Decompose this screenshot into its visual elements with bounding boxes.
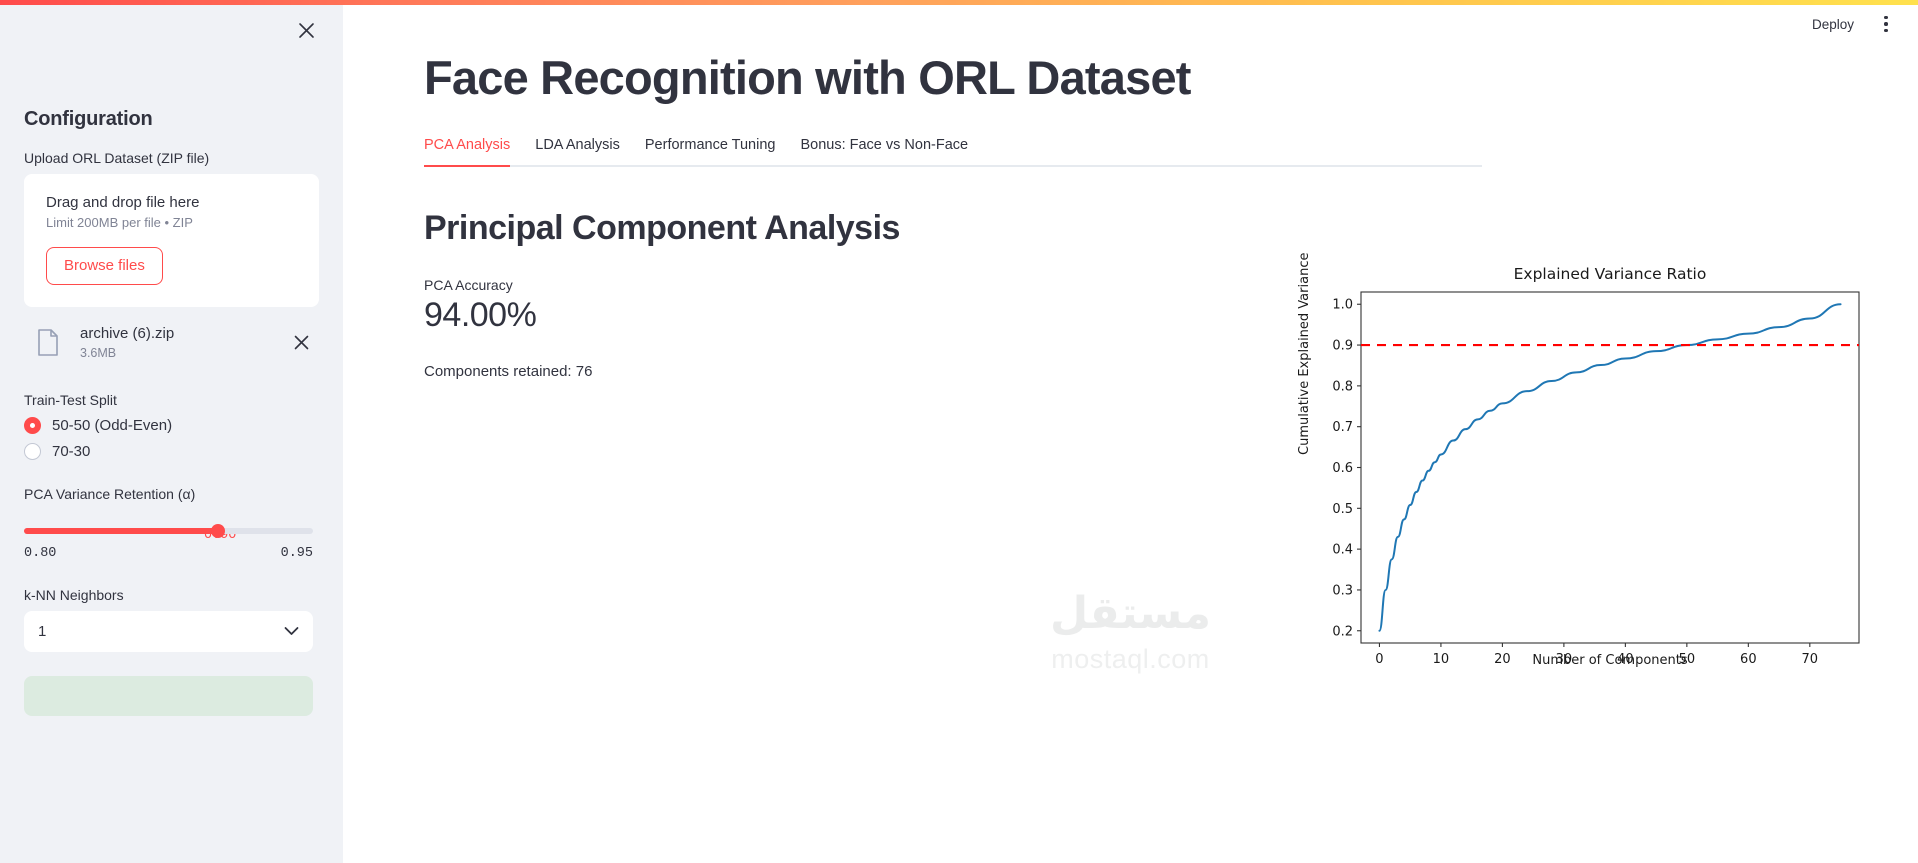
sidebar-title: Configuration <box>24 108 319 131</box>
watermark-arabic: مستقل <box>1033 592 1228 636</box>
browse-files-button[interactable]: Browse files <box>46 247 163 285</box>
page-title: Face Recognition with ORL Dataset <box>424 52 1918 104</box>
svg-text:0.4: 0.4 <box>1332 543 1353 558</box>
variance-slider[interactable]: 0.90 0.80 0.95 <box>24 528 313 561</box>
sidebar: Configuration Upload ORL Dataset (ZIP fi… <box>0 0 343 863</box>
svg-text:30: 30 <box>1556 652 1573 667</box>
dropzone-title: Drag and drop file here <box>46 194 297 211</box>
svg-text:0.7: 0.7 <box>1332 420 1353 435</box>
uploaded-file-row: archive (6).zip 3.6MB <box>24 319 319 366</box>
uploaded-file-name: archive (6).zip <box>80 325 287 344</box>
top-gradient-bar <box>0 0 1918 5</box>
radio-label-70-30: 70-30 <box>52 443 90 460</box>
knn-neighbors-value: 1 <box>38 623 284 640</box>
close-icon <box>298 22 315 39</box>
variance-slider-bounds: 0.80 0.95 <box>24 546 313 561</box>
knn-neighbors-select[interactable]: 1 <box>24 611 313 652</box>
knn-neighbors-label: k-NN Neighbors <box>24 587 319 603</box>
remove-file-button[interactable] <box>287 335 315 350</box>
variance-slider-min: 0.80 <box>24 546 56 561</box>
radio-indicator-unselected <box>24 443 41 460</box>
svg-text:50: 50 <box>1679 652 1696 667</box>
main-content: Deploy Face Recognition with ORL Dataset… <box>343 0 1918 863</box>
watermark-latin: mostaql.com <box>1033 644 1228 675</box>
svg-text:0.6: 0.6 <box>1332 461 1353 476</box>
uploaded-file-meta: archive (6).zip 3.6MB <box>68 325 287 360</box>
close-icon <box>294 335 309 350</box>
file-dropzone[interactable]: Drag and drop file here Limit 200MB per … <box>24 174 319 307</box>
explained-variance-chart: Explained Variance Ratio Cumulative Expl… <box>1303 265 1883 685</box>
app-root: Configuration Upload ORL Dataset (ZIP fi… <box>0 0 1918 863</box>
watermark: مستقل mostaql.com <box>1033 592 1228 675</box>
variance-slider-thumb[interactable] <box>211 524 225 538</box>
svg-text:0.3: 0.3 <box>1332 583 1353 598</box>
radio-label-50-50: 50-50 (Odd-Even) <box>52 417 172 434</box>
sidebar-close-button[interactable] <box>289 13 323 47</box>
tab-pca-analysis[interactable]: PCA Analysis <box>424 137 510 165</box>
svg-text:0.2: 0.2 <box>1332 624 1353 639</box>
tab-lda-analysis[interactable]: LDA Analysis <box>535 137 620 165</box>
file-icon <box>28 329 68 356</box>
tab-bar: PCA Analysis LDA Analysis Performance Tu… <box>424 137 1482 167</box>
uploaded-file-size: 3.6MB <box>80 346 287 360</box>
svg-text:40: 40 <box>1617 652 1634 667</box>
variance-slider-max: 0.95 <box>281 546 313 561</box>
variance-slider-track[interactable] <box>24 528 313 534</box>
topbar: Deploy <box>1812 0 1918 48</box>
radio-indicator-selected <box>24 417 41 434</box>
svg-text:0.5: 0.5 <box>1332 502 1353 517</box>
tab-bonus-face-vs-non-face[interactable]: Bonus: Face vs Non-Face <box>800 137 968 165</box>
svg-text:60: 60 <box>1740 652 1757 667</box>
train-test-split-label: Train-Test Split <box>24 392 319 408</box>
status-success-box <box>24 676 313 716</box>
svg-text:0.9: 0.9 <box>1332 339 1353 354</box>
chart-canvas: 0.20.30.40.50.60.70.80.91.00102030405060… <box>1303 265 1883 685</box>
svg-text:10: 10 <box>1433 652 1450 667</box>
tab-performance-tuning[interactable]: Performance Tuning <box>645 137 776 165</box>
svg-text:0.8: 0.8 <box>1332 379 1353 394</box>
dropzone-limit-text: Limit 200MB per file • ZIP <box>46 215 297 230</box>
radio-option-50-50[interactable]: 50-50 (Odd-Even) <box>24 417 319 434</box>
svg-text:20: 20 <box>1494 652 1511 667</box>
deploy-button[interactable]: Deploy <box>1812 17 1854 32</box>
section-title: Principal Component Analysis <box>424 209 1918 248</box>
svg-text:0: 0 <box>1375 652 1383 667</box>
variance-retention-label: PCA Variance Retention (α) <box>24 486 319 502</box>
upload-label: Upload ORL Dataset (ZIP file) <box>24 150 319 166</box>
kebab-menu-icon[interactable] <box>1876 13 1896 35</box>
radio-option-70-30[interactable]: 70-30 <box>24 443 319 460</box>
svg-text:1.0: 1.0 <box>1332 298 1353 313</box>
chevron-down-icon <box>284 626 299 636</box>
svg-text:70: 70 <box>1802 652 1819 667</box>
variance-slider-fill <box>24 528 218 534</box>
